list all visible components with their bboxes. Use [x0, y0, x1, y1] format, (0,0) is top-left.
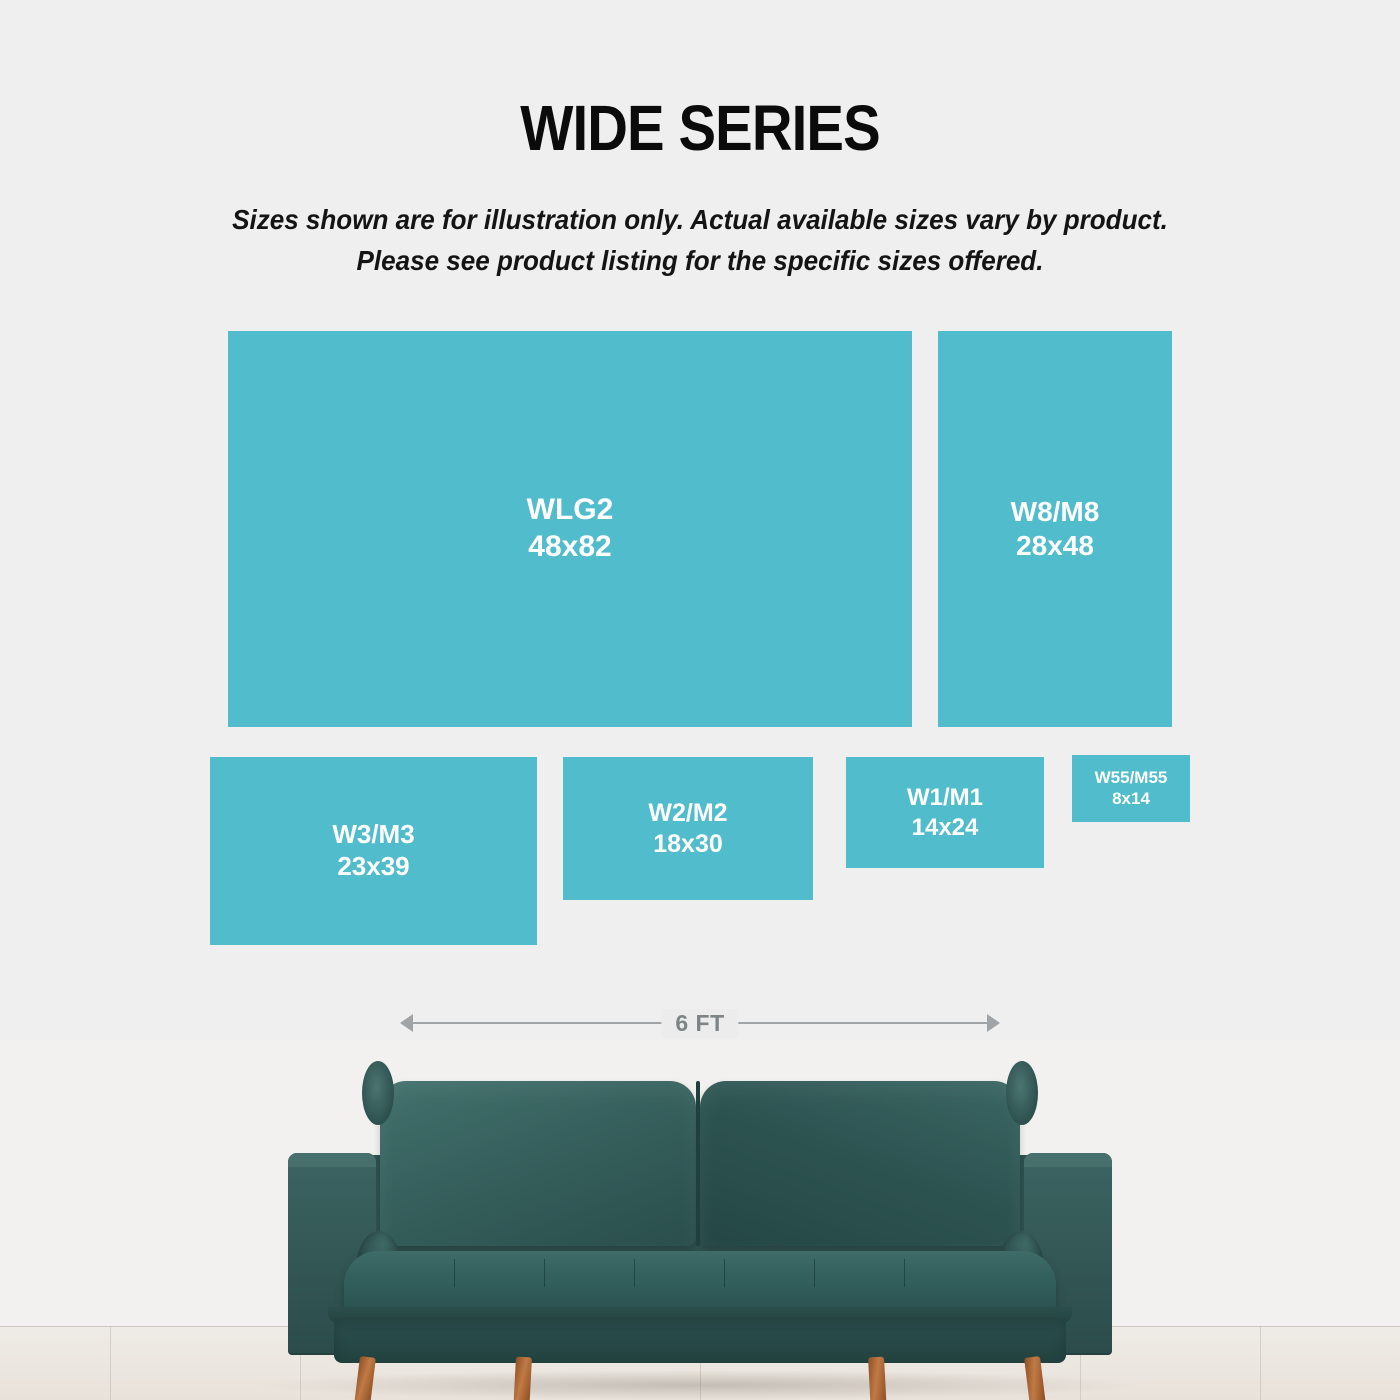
scale-arrow-right-icon: [987, 1014, 1000, 1032]
size-swatch: W2/M218x30: [563, 757, 813, 900]
size-swatch: W8/M828x48: [938, 331, 1172, 727]
sofa-back-seam: [696, 1081, 700, 1246]
size-swatch: W1/M114x24: [846, 757, 1044, 868]
sofa-arm-top-right: [1024, 1153, 1112, 1167]
seat-tuft: [904, 1259, 905, 1287]
size-guide-graphic: WIDE SERIES Sizes shown are for illustra…: [0, 0, 1400, 1400]
size-swatch-dimensions: 14x24: [912, 813, 979, 842]
size-swatch-dimensions: 48x82: [528, 529, 611, 566]
size-swatch-name: W1/M1: [907, 783, 983, 812]
size-swatch: WLG248x82: [228, 331, 912, 727]
subtitle-line-1: Sizes shown are for illustration only. A…: [49, 200, 1351, 241]
size-swatch-name: W8/M8: [1011, 495, 1100, 529]
size-swatch-dimensions: 18x30: [653, 829, 723, 860]
sofa-leg: [513, 1357, 532, 1400]
sofa-leg: [868, 1357, 887, 1400]
size-swatch-name: WLG2: [527, 492, 614, 529]
floor-plank: [110, 1326, 111, 1400]
page-subtitle: Sizes shown are for illustration only. A…: [49, 200, 1351, 281]
seat-tuft: [724, 1259, 725, 1287]
sofa-bolster-face-right: [1006, 1061, 1038, 1125]
sofa-seat-cushion: [344, 1251, 1056, 1315]
size-swatch-dimensions: 28x48: [1016, 529, 1094, 563]
sofa-scene: [0, 1040, 1400, 1400]
seat-tuft: [634, 1259, 635, 1287]
size-swatch: W3/M323x39: [210, 757, 537, 945]
seat-tuft: [544, 1259, 545, 1287]
sofa-back-cushion-right: [700, 1081, 1020, 1246]
size-swatch-name: W2/M2: [648, 798, 727, 829]
sofa-back-cushion-left: [380, 1081, 696, 1246]
sofa-arm-top-left: [288, 1153, 376, 1167]
size-swatch-name: W3/M3: [332, 819, 414, 851]
scale-bar-label: 6 FT: [661, 1009, 738, 1038]
sofa-illustration: [288, 1055, 1112, 1385]
seat-tuft: [814, 1259, 815, 1287]
floor-plank: [1260, 1326, 1261, 1400]
size-swatch-name: W55/M55: [1095, 768, 1168, 789]
scale-bar: 6 FT: [400, 1010, 1000, 1036]
sofa-skirt: [334, 1317, 1066, 1363]
subtitle-line-2: Please see product listing for the speci…: [49, 241, 1351, 282]
size-swatch-dimensions: 8x14: [1112, 789, 1150, 810]
scale-arrow-left-icon: [400, 1014, 413, 1032]
sofa-bolster-face-left: [362, 1061, 394, 1125]
seat-tuft: [454, 1259, 455, 1287]
page-title: WIDE SERIES: [84, 96, 1316, 160]
size-swatch-dimensions: 23x39: [337, 851, 409, 883]
size-swatch: W55/M558x14: [1072, 755, 1190, 822]
